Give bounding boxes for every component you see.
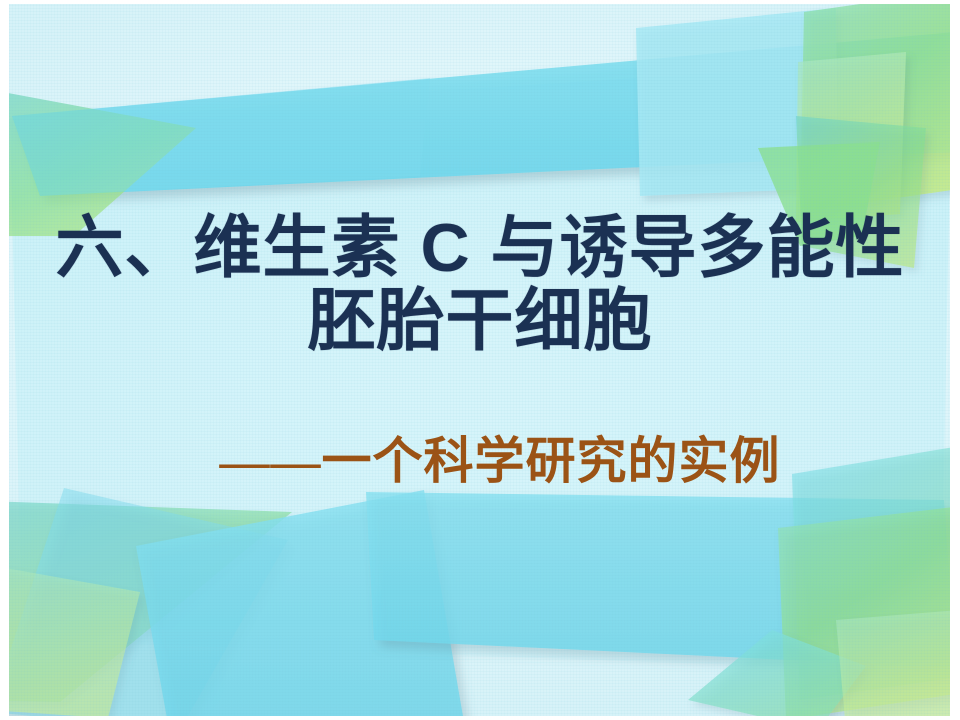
slide-title-container: 六、维生素 C 与诱导多能性 胚胎干细胞 (0, 212, 960, 358)
slide-subtitle-container: ——一个科学研究的实例 (0, 434, 960, 489)
page-title: 六、维生素 C 与诱导多能性 胚胎干细胞 (0, 212, 960, 358)
slide-text-layer: 六、维生素 C 与诱导多能性 胚胎干细胞 ——一个科学研究的实例 (0, 0, 960, 720)
presentation-slide: 六、维生素 C 与诱导多能性 胚胎干细胞 ——一个科学研究的实例 (0, 0, 960, 720)
slide-subtitle: ——一个科学研究的实例 (0, 434, 960, 489)
